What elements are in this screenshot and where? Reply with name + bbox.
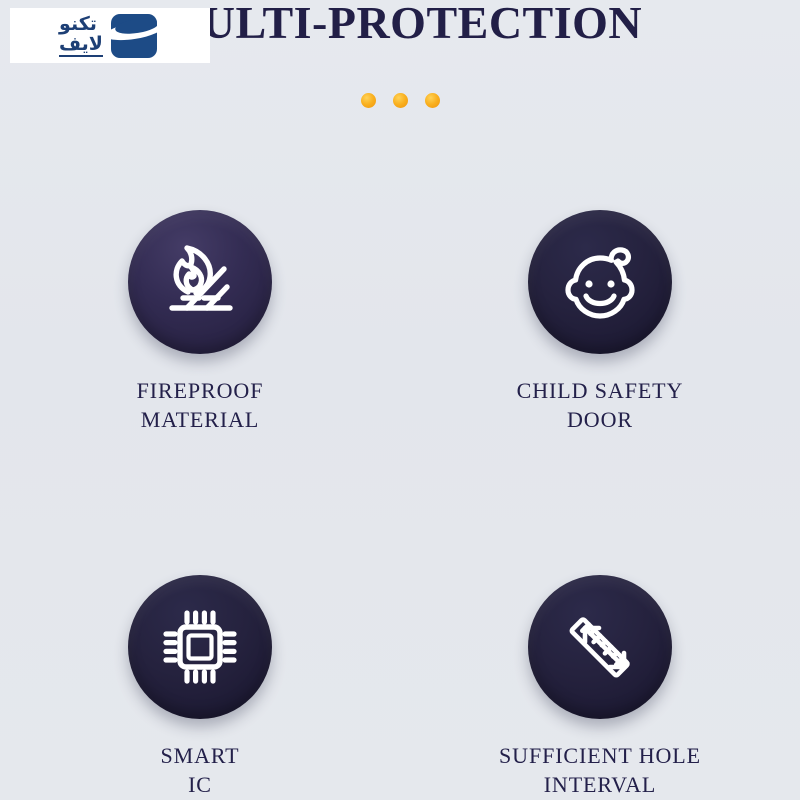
feature-caption-line2: IC: [161, 770, 240, 799]
feature-caption-child-safety-door: CHILD SAFETY DOOR: [517, 376, 684, 434]
feature-item-hole-interval: SUFFICIENT HOLE INTERVAL: [430, 575, 770, 800]
feature-caption-line2: DOOR: [517, 405, 684, 434]
feature-item-smart-ic: SMART IC: [30, 575, 370, 800]
watermark-brand-text: تكنو لايف: [59, 14, 103, 57]
feature-grid: FIREPROOF MATERIAL: [0, 210, 800, 800]
dot-2-icon: [393, 93, 408, 108]
feature-caption-line1: SUFFICIENT HOLE: [499, 743, 701, 768]
decorative-dots-row: [0, 93, 800, 108]
feature-badge-hole-interval: [528, 575, 672, 719]
dot-3-icon: [425, 93, 440, 108]
fireproof-flame-icon: [154, 236, 246, 328]
feature-badge-smart-ic: [128, 575, 272, 719]
feature-badge-child-safety-door: [528, 210, 672, 354]
baby-face-icon: [554, 236, 646, 328]
watermark-logo: تكنو لايف: [10, 8, 210, 63]
feature-caption-line1: SMART: [161, 743, 240, 768]
multi-protection-feature-panel: MULTI-PROTECTION: [0, 0, 800, 800]
watermark-brand-line1: تكنو: [59, 14, 97, 34]
feature-caption-hole-interval: SUFFICIENT HOLE INTERVAL: [499, 741, 701, 799]
feature-caption-line2: INTERVAL: [499, 770, 701, 799]
feature-caption-fireproof: FIREPROOF MATERIAL: [137, 376, 264, 434]
feature-caption-smart-ic: SMART IC: [161, 741, 240, 799]
microchip-icon: [154, 601, 246, 693]
dot-1-icon: [361, 93, 376, 108]
feature-caption-line1: FIREPROOF: [137, 378, 264, 403]
feature-item-fireproof: FIREPROOF MATERIAL: [30, 210, 370, 575]
ruler-measure-icon: [554, 601, 646, 693]
feature-badge-fireproof: [128, 210, 272, 354]
feature-caption-line2: MATERIAL: [137, 405, 264, 434]
techno-life-logo-icon: [111, 14, 157, 58]
watermark-brand-line2: لايف: [59, 34, 103, 57]
feature-item-child-safety-door: CHILD SAFETY DOOR: [430, 210, 770, 575]
feature-caption-line1: CHILD SAFETY: [517, 378, 684, 403]
